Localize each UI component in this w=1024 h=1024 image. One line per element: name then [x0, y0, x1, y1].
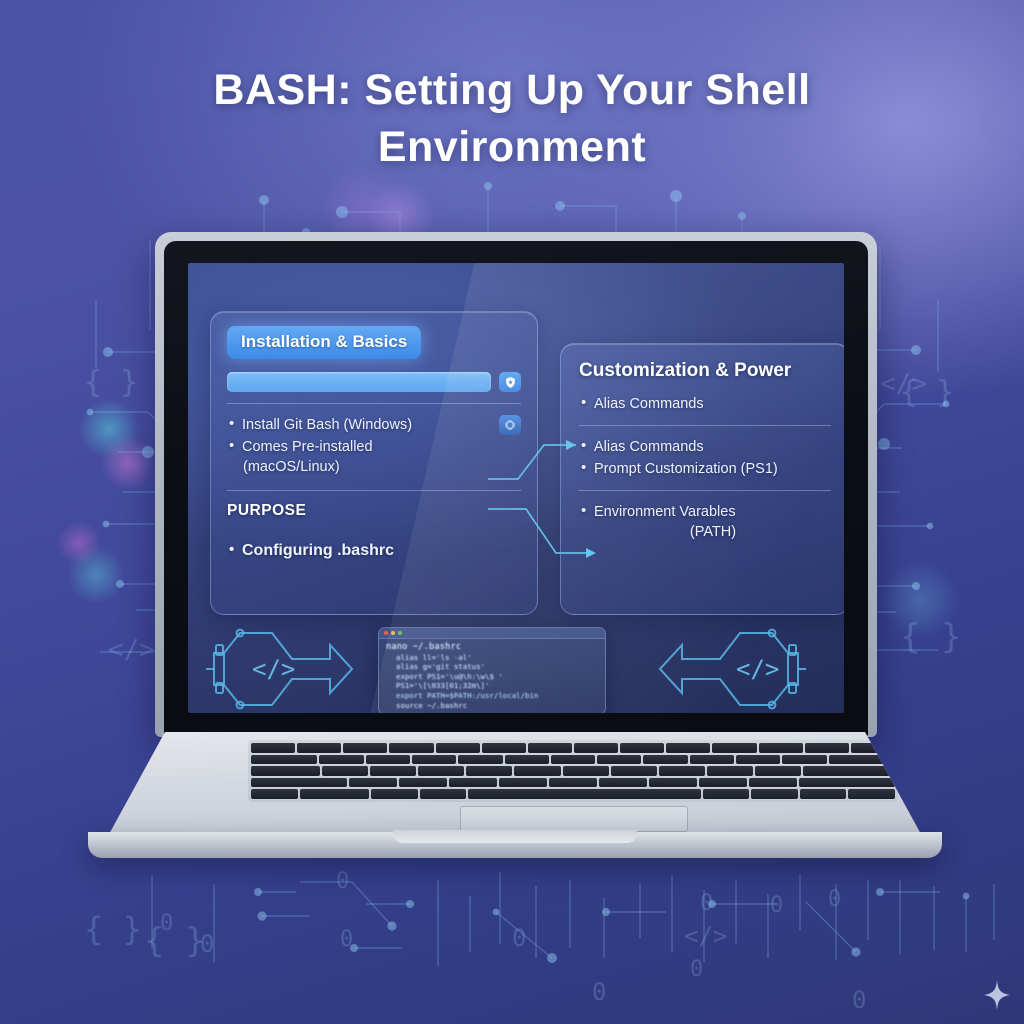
trackpad[interactable]	[460, 806, 688, 832]
key	[251, 755, 317, 765]
zero-glyph: 0	[512, 924, 526, 952]
key	[699, 778, 747, 788]
code-glyph: </>	[684, 922, 727, 950]
zero-glyph: 0	[340, 927, 353, 952]
terminal-line: nano ~/.bashrc	[386, 643, 598, 653]
key	[468, 789, 701, 799]
key	[751, 789, 798, 799]
bullet-row-with-icon: Install Git Bash (Windows) Comes Pre-ins…	[227, 415, 521, 479]
list-item: Install Git Bash (Windows)	[227, 415, 493, 435]
panel-right-title: Customization & Power	[579, 360, 831, 382]
page-title-line1: BASH: Setting Up Your Shell	[0, 62, 1024, 119]
key	[800, 789, 847, 799]
key-row	[251, 755, 895, 765]
key	[649, 778, 697, 788]
zero-glyph: 0	[336, 869, 349, 894]
list-item-sublabel: (PATH)	[594, 522, 831, 542]
terminal-titlebar	[379, 628, 605, 639]
key	[514, 766, 560, 776]
key	[848, 789, 895, 799]
key	[574, 743, 618, 753]
key	[703, 789, 750, 799]
key	[805, 743, 849, 753]
keyboard[interactable]	[248, 740, 898, 802]
key	[690, 755, 734, 765]
list-item-sublabel: (macOS/Linux)	[242, 457, 493, 477]
key	[611, 766, 657, 776]
chip-icon[interactable]	[499, 415, 521, 435]
list-item: Alias Commands	[579, 437, 831, 457]
green-dot[interactable]	[398, 631, 402, 635]
laptop-lid: Installation & Basics Install Git Bash (…	[155, 232, 877, 737]
key	[782, 755, 826, 765]
shield-star-icon[interactable]	[499, 372, 521, 392]
key	[366, 755, 410, 765]
key	[251, 778, 347, 788]
key	[755, 766, 801, 776]
key	[528, 743, 572, 753]
key	[371, 789, 418, 799]
zero-glyph: 0	[852, 986, 866, 1014]
key	[749, 778, 797, 788]
page-title: BASH: Setting Up Your Shell Environment	[0, 62, 1024, 176]
yellow-dot[interactable]	[391, 631, 395, 635]
terminal-line: export PATH=$PATH:/usr/local/bin	[386, 691, 598, 701]
key	[666, 743, 710, 753]
key	[251, 789, 298, 799]
divider	[579, 490, 831, 491]
divider	[227, 403, 521, 404]
panel-right-group1: Alias Commands	[579, 394, 831, 414]
key	[549, 778, 597, 788]
zero-glyph: 0	[200, 930, 214, 958]
laptop-screen: Installation & Basics Install Git Bash (…	[188, 263, 844, 713]
brace-glyph: { }	[84, 910, 142, 948]
key	[420, 789, 467, 799]
key	[458, 755, 502, 765]
key	[707, 766, 753, 776]
key	[803, 766, 895, 776]
key	[799, 778, 895, 788]
key	[563, 766, 609, 776]
panel-right-group3: Environment Varables (PATH)	[579, 502, 831, 542]
key	[418, 766, 464, 776]
key	[370, 766, 416, 776]
list-item: Prompt Customization (PS1)	[579, 459, 831, 479]
key	[482, 743, 526, 753]
panel-left-badge[interactable]: Installation & Basics	[227, 326, 421, 359]
key	[322, 766, 368, 776]
code-arrow-right-icon: </>	[206, 623, 354, 713]
svg-text:</>: </>	[736, 655, 779, 683]
terminal-line: export PS1='\u@\h:\w\$ '	[386, 672, 598, 682]
key	[643, 755, 687, 765]
terminal-line: alias g='git status'	[386, 662, 598, 672]
key	[389, 743, 433, 753]
zero-glyph: 0	[592, 978, 606, 1006]
page-title-line2: Environment	[0, 119, 1024, 176]
list-item-label: Environment Varables	[594, 504, 736, 520]
panel-installation-basics[interactable]: Installation & Basics Install Git Bash (…	[210, 311, 538, 615]
key	[759, 743, 803, 753]
key	[300, 789, 370, 799]
search-row[interactable]	[227, 372, 521, 392]
panel-customization-power[interactable]: Customization & Power Alias Commands Ali…	[560, 343, 844, 615]
key	[319, 755, 363, 765]
list-item: Alias Commands	[579, 394, 831, 414]
panel-right-group2: Alias Commands Prompt Customization (PS1…	[579, 437, 831, 479]
terminal-window[interactable]: nano ~/.bashrc alias ll='ls -al' alias g…	[378, 627, 606, 713]
laptop-bezel: Installation & Basics Install Git Bash (…	[164, 241, 868, 737]
search-input[interactable]	[227, 372, 491, 392]
divider	[579, 425, 831, 426]
terminal-output: nano ~/.bashrc alias ll='ls -al' alias g…	[379, 639, 605, 713]
list-item-label: Comes Pre-installed	[242, 439, 373, 455]
zero-glyph: 0	[690, 957, 703, 982]
key	[620, 743, 664, 753]
key	[829, 755, 895, 765]
list-item: Environment Varables (PATH)	[579, 502, 831, 542]
list-item: Configuring .bashrc	[227, 540, 521, 562]
laptop-latch-notch	[393, 830, 637, 843]
key	[399, 778, 447, 788]
key	[659, 766, 705, 776]
key	[499, 778, 547, 788]
key	[343, 743, 387, 753]
key	[712, 743, 756, 753]
divider	[227, 490, 521, 491]
key-row	[251, 766, 895, 776]
slide-canvas: { } { } { } { } { } </> </> </> 0 0 0 0 …	[0, 0, 1024, 1024]
key	[551, 755, 595, 765]
svg-text:</>: </>	[252, 655, 295, 683]
section-label-purpose: PURPOSE	[227, 502, 521, 520]
sparkle-icon	[984, 980, 1010, 1010]
key	[436, 743, 480, 753]
key	[251, 743, 295, 753]
terminal-line: alias ll='ls -al'	[386, 653, 598, 663]
terminal-line: source ~/.bashrc	[386, 701, 598, 711]
red-dot[interactable]	[384, 631, 388, 635]
code-arrow-left-icon: </>	[658, 623, 806, 713]
key	[349, 778, 397, 788]
key	[466, 766, 512, 776]
key	[251, 766, 320, 776]
terminal-line: PS1='\[\033[01;32m\]'	[386, 681, 598, 691]
list-item: Comes Pre-installed (macOS/Linux)	[227, 437, 493, 477]
zero-glyph: 0	[828, 887, 841, 912]
key	[297, 743, 341, 753]
laptop-deck	[108, 732, 922, 836]
panel-left-highlight-bullets: Configuring .bashrc	[227, 540, 521, 562]
laptop-base	[50, 732, 980, 860]
key-row	[251, 743, 895, 753]
zero-glyph: 0	[700, 891, 713, 916]
panel-left-bullets: Install Git Bash (Windows) Comes Pre-ins…	[227, 415, 493, 479]
key	[599, 778, 647, 788]
key	[851, 743, 895, 753]
laptop-illustration: Installation & Basics Install Git Bash (…	[50, 232, 980, 872]
key	[412, 755, 456, 765]
key	[597, 755, 641, 765]
brace-glyph: { }	[144, 921, 205, 961]
key-row	[251, 778, 895, 788]
key-row	[251, 789, 895, 799]
zero-glyph: 0	[770, 893, 783, 918]
key	[736, 755, 780, 765]
key	[449, 778, 497, 788]
zero-glyph: 0	[160, 911, 173, 936]
key	[505, 755, 549, 765]
